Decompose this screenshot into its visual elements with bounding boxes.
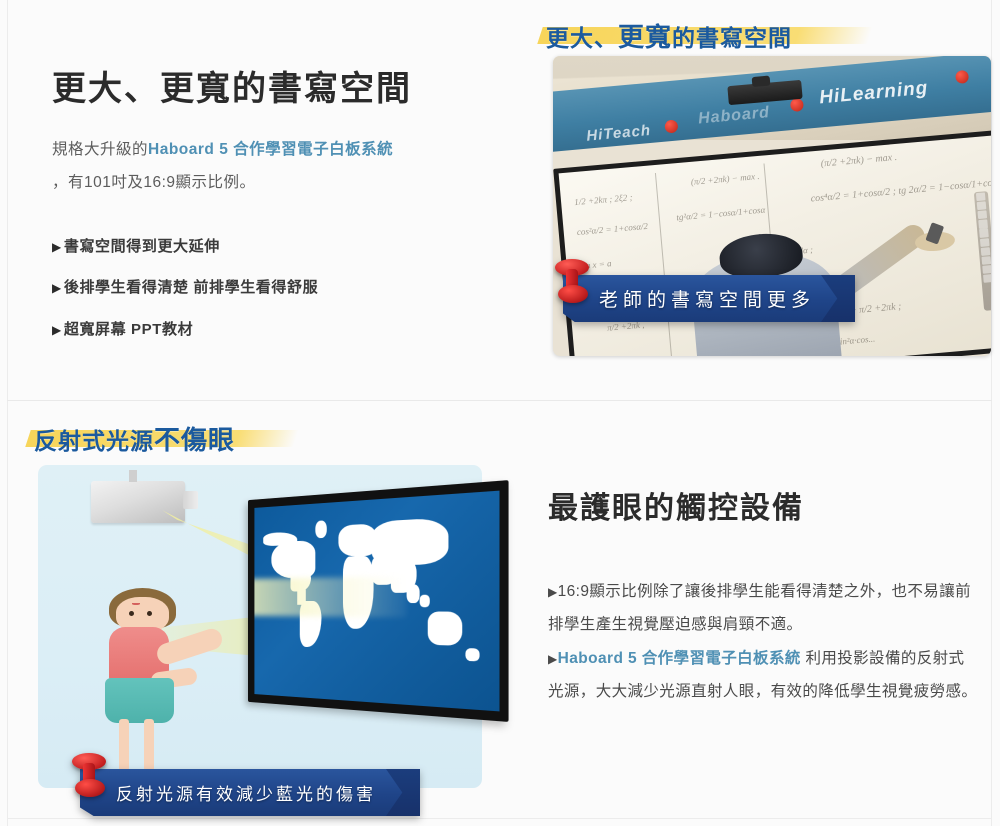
badge-text-part1: 更大、 — [546, 25, 618, 51]
photo-whiteboard: 1/2 +2kπ ; 2ξ2 ; (π/2 +2πk) − max . (π/2… — [553, 130, 991, 356]
badge-text-part3: 的書寫空間 — [672, 25, 792, 51]
badge-text-part2: 不傷眼 — [154, 425, 235, 455]
student-eye — [147, 611, 152, 616]
bullet-item: ▶書寫空間得到更大延伸 — [52, 237, 512, 257]
badge-text-part2: 更寬 — [618, 22, 672, 52]
photo-red-dot-icon — [955, 70, 969, 84]
lead-suffix: ，有101吋及16:9顯示比例。 — [52, 174, 256, 191]
student-leg — [119, 719, 129, 771]
badge-text-part1: 反射式光源 — [34, 428, 154, 454]
product-feature-page: 更大、更寬的書寫空間 規格大升級的Haboard 5 合作學習電子白板系統，有1… — [0, 0, 1000, 826]
reflection-illustration: 反射光源有效減少藍光的傷害 — [38, 465, 482, 788]
student-leg — [144, 719, 154, 771]
section1-heading: 更大、更寬的書寫空間 — [52, 68, 512, 111]
section-eye-protection: 反射式光源不傷眼 — [0, 401, 1000, 826]
section1-lead-paragraph: 規格大升級的Haboard 5 合作學習電子白板系統，有101吋及16:9顯示比… — [52, 133, 512, 200]
paragraph-1-text: 16:9顯示比例除了讓後排學生能看得清楚之外，也不易讓前排學生產生視覺壓迫感與肩… — [548, 583, 971, 633]
bullet-label: 後排學生看得清楚 前排學生看得舒服 — [64, 279, 318, 296]
pushpin-base — [75, 779, 105, 797]
photo-red-dot-icon — [664, 119, 678, 133]
pushpin-icon — [72, 753, 112, 803]
triangle-bullet-icon: ▶ — [52, 323, 62, 337]
student-skirt — [105, 678, 174, 723]
section2-heading: 最護眼的觸控設備 — [548, 483, 978, 527]
badge-text: 更大、更寬的書寫空間 — [546, 17, 792, 54]
section2-paragraph-2: ▶Haboard 5 合作學習電子白板系統 利用投影設備的反射式光源，大大減少光… — [548, 642, 978, 709]
section1-text-column: 更大、更寬的書寫空間 規格大升級的Haboard 5 合作學習電子白板系統，有1… — [52, 68, 512, 361]
section1-image-badge: 更大、更寬的書寫空間 — [546, 20, 792, 50]
section1-ribbon-banner: 老師的書寫空間更多 — [563, 275, 855, 322]
screen-light-glare — [254, 576, 406, 618]
section2-ribbon-banner: 反射光源有效減少藍光的傷害 — [80, 769, 420, 816]
section2-image-badge: 反射式光源不傷眼 — [34, 423, 235, 453]
bullet-label: 書寫空間得到更大延伸 — [64, 238, 220, 255]
display-screen — [248, 480, 509, 721]
section1-bullet-list: ▶書寫空間得到更大延伸 ▶後排學生看得清楚 前排學生看得舒服 ▶超寬屏幕 PPT… — [52, 237, 512, 340]
ribbon-caption: 老師的書寫空間更多 — [599, 275, 815, 322]
student-eye — [129, 611, 134, 616]
student-illustration — [100, 588, 215, 775]
badge-text: 反射式光源不傷眼 — [34, 420, 235, 457]
photo-brand-haboard: Haboard — [698, 104, 771, 128]
triangle-bullet-icon: ▶ — [548, 585, 558, 599]
photo-red-dot-icon — [790, 98, 804, 112]
section-writing-space: 更大、更寬的書寫空間 規格大升級的Haboard 5 合作學習電子白板系統，有1… — [0, 0, 1000, 400]
bullet-item: ▶超寬屏幕 PPT教材 — [52, 320, 512, 340]
pushpin-icon — [555, 259, 595, 309]
ribbon-caption: 反射光源有效減少藍光的傷害 — [116, 769, 376, 816]
lead-prefix: 規格大升級的 — [52, 141, 148, 158]
pushpin-base — [558, 285, 588, 303]
section2-media-column: 反射式光源不傷眼 — [16, 417, 486, 807]
student-mouth — [132, 603, 139, 605]
section2-paragraph-1: ▶16:9顯示比例除了讓後排學生能看得清楚之外，也不易讓前排學生產生視覺壓迫感與… — [548, 575, 978, 642]
triangle-bullet-icon: ▶ — [52, 281, 62, 295]
section1-media-column: 更大、更寬的書寫空間 HiTeach Haboard HiLearning 1/… — [534, 8, 982, 390]
triangle-bullet-icon: ▶ — [548, 652, 558, 666]
photo-brand-hiteach: HiTeach — [586, 122, 652, 145]
projector-icon — [91, 481, 184, 523]
bullet-item: ▶後排學生看得清楚 前排學生看得舒服 — [52, 278, 512, 298]
haboard-product-link[interactable]: Haboard 5 合作學習電子白板系統 — [558, 650, 801, 667]
photo-board-toolbar — [973, 191, 991, 310]
page-bottom-border — [7, 818, 992, 819]
screen-surface — [254, 490, 499, 711]
bullet-label: 超寬屏幕 PPT教材 — [64, 321, 193, 338]
classroom-photo: HiTeach Haboard HiLearning 1/2 +2kπ ; 2ξ… — [553, 56, 991, 356]
section2-text-column: 最護眼的觸控設備 ▶16:9顯示比例除了讓後排學生能看得清楚之外，也不易讓前排學… — [548, 483, 978, 708]
triangle-bullet-icon: ▶ — [52, 240, 62, 254]
haboard-product-link[interactable]: Haboard 5 合作學習電子白板系統 — [148, 141, 393, 158]
photo-brand-hilearning: HiLearning — [819, 78, 930, 110]
